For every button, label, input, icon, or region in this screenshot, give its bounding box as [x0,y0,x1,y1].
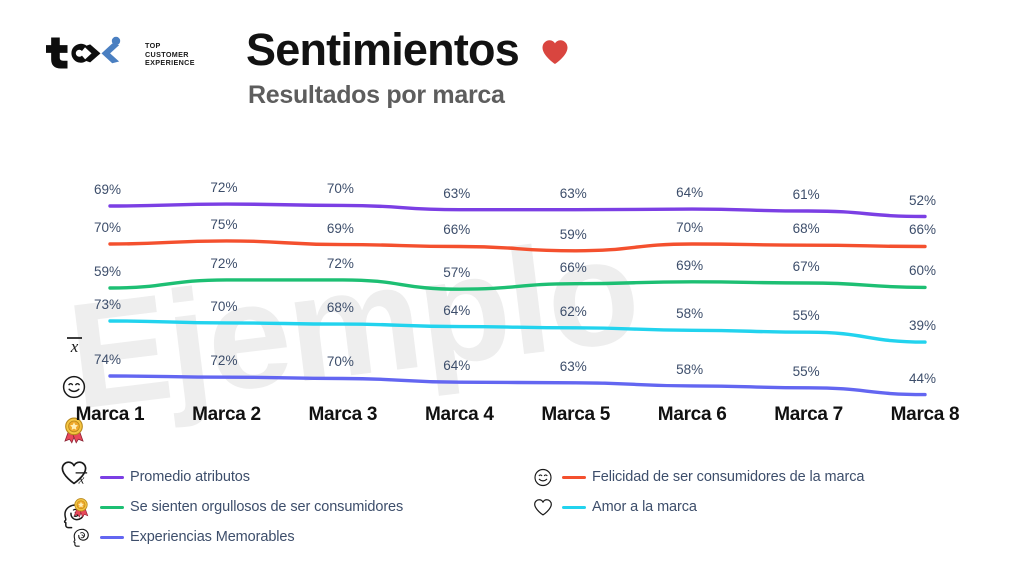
legend-item[interactable]: x Promedio atributos [68,462,528,492]
value-label: 63% [560,186,587,201]
value-label: 44% [909,371,936,386]
value-label: 52% [909,193,936,208]
legend-label: Se sienten orgullosos de ser consumidore… [130,499,403,515]
legend-item[interactable]: Amor a la marca [530,492,990,522]
x-axis-tick: Marca 2 [166,404,286,426]
value-label: 70% [676,220,703,235]
value-label: 62% [560,304,587,319]
value-label: 70% [94,220,121,235]
value-label: 64% [676,185,703,200]
value-label: 39% [909,318,936,333]
x-bar-icon: x [68,467,94,488]
value-label: 63% [443,186,470,201]
x-axis-tick: Marca 8 [865,404,985,426]
value-label: 70% [327,354,354,369]
value-label: 67% [793,259,820,274]
logo-tagline-line-3: EXPERIENCE [145,59,195,68]
value-label: 57% [443,265,470,280]
value-label: 72% [210,180,237,195]
value-label: 73% [94,297,121,312]
value-label: 63% [560,359,587,374]
value-label: 69% [94,182,121,197]
x-axis-tick: Marca 6 [632,404,752,426]
brain-head-icon [68,527,94,548]
value-label: 69% [327,221,354,236]
series-line [110,321,925,342]
value-label: 55% [793,308,820,323]
title-block: Sentimientos Resultados por marca [246,26,766,110]
legend-color-swatch [100,536,124,539]
value-label: 69% [676,258,703,273]
value-label: 75% [210,217,237,232]
legend-item[interactable]: Se sienten orgullosos de ser consumidore… [68,492,528,522]
page-header: TOP CUSTOMER EXPERIENCE Sentimientos Res… [0,0,1024,130]
value-label: 66% [909,222,936,237]
value-label: 68% [327,300,354,315]
value-label: 59% [94,264,121,279]
legend-color-swatch [100,506,124,509]
value-label: 72% [327,256,354,271]
value-label: 70% [210,299,237,314]
legend-label: Experiencias Memorables [130,529,295,545]
value-label: 61% [793,187,820,202]
value-label: 55% [793,364,820,379]
x-axis-tick: Marca 5 [516,404,636,426]
series-line [110,204,925,216]
value-label: 72% [210,256,237,271]
value-label: 72% [210,353,237,368]
legend-label: Promedio atributos [130,469,250,485]
page-subtitle: Resultados por marca [248,81,766,110]
line-plot [0,140,1024,400]
value-label: 64% [443,358,470,373]
series-line [110,376,925,395]
svg-text:x: x [70,337,79,356]
smiley-icon [56,365,92,408]
heart-outline-icon [530,497,556,518]
series-line [110,280,925,289]
legend-color-swatch [562,476,586,479]
legend-color-swatch [100,476,124,479]
brand-logo: TOP CUSTOMER EXPERIENCE [46,36,195,72]
value-label: 58% [676,362,703,377]
page-title: Sentimientos [246,26,519,73]
value-label: 68% [793,221,820,236]
smiley-icon [530,467,556,488]
tcx-logo-icon [46,36,138,72]
x-axis-tick: Marca 4 [399,404,519,426]
value-label: 64% [443,303,470,318]
value-label: 74% [94,352,121,367]
svg-text:x: x [77,471,84,486]
value-label: 70% [327,181,354,196]
value-label: 59% [560,227,587,242]
legend-label: Felicidad de ser consumidores de la marc… [592,469,864,485]
legend-column-left: x Promedio atributos Se sienten orgullos… [68,462,528,552]
logo-tagline: TOP CUSTOMER EXPERIENCE [145,40,195,68]
legend-item[interactable]: Felicidad de ser consumidores de la marc… [530,462,990,492]
medal-icon [68,497,94,518]
value-label: 66% [443,222,470,237]
legend-label: Amor a la marca [592,499,697,515]
value-label: 66% [560,260,587,275]
value-label: 58% [676,306,703,321]
legend-item[interactable]: Experiencias Memorables [68,522,528,552]
legend-column-right: Felicidad de ser consumidores de la marc… [530,462,990,522]
series-line [110,241,925,251]
x-axis-tick: Marca 3 [283,404,403,426]
chart-area: Ejemplo x [0,140,1024,440]
value-label: 60% [909,263,936,278]
x-axis-tick: Marca 1 [50,404,170,426]
x-axis-tick: Marca 7 [749,404,869,426]
legend-color-swatch [562,506,586,509]
x-bar-icon: x [56,322,92,365]
heart-icon [541,35,569,65]
